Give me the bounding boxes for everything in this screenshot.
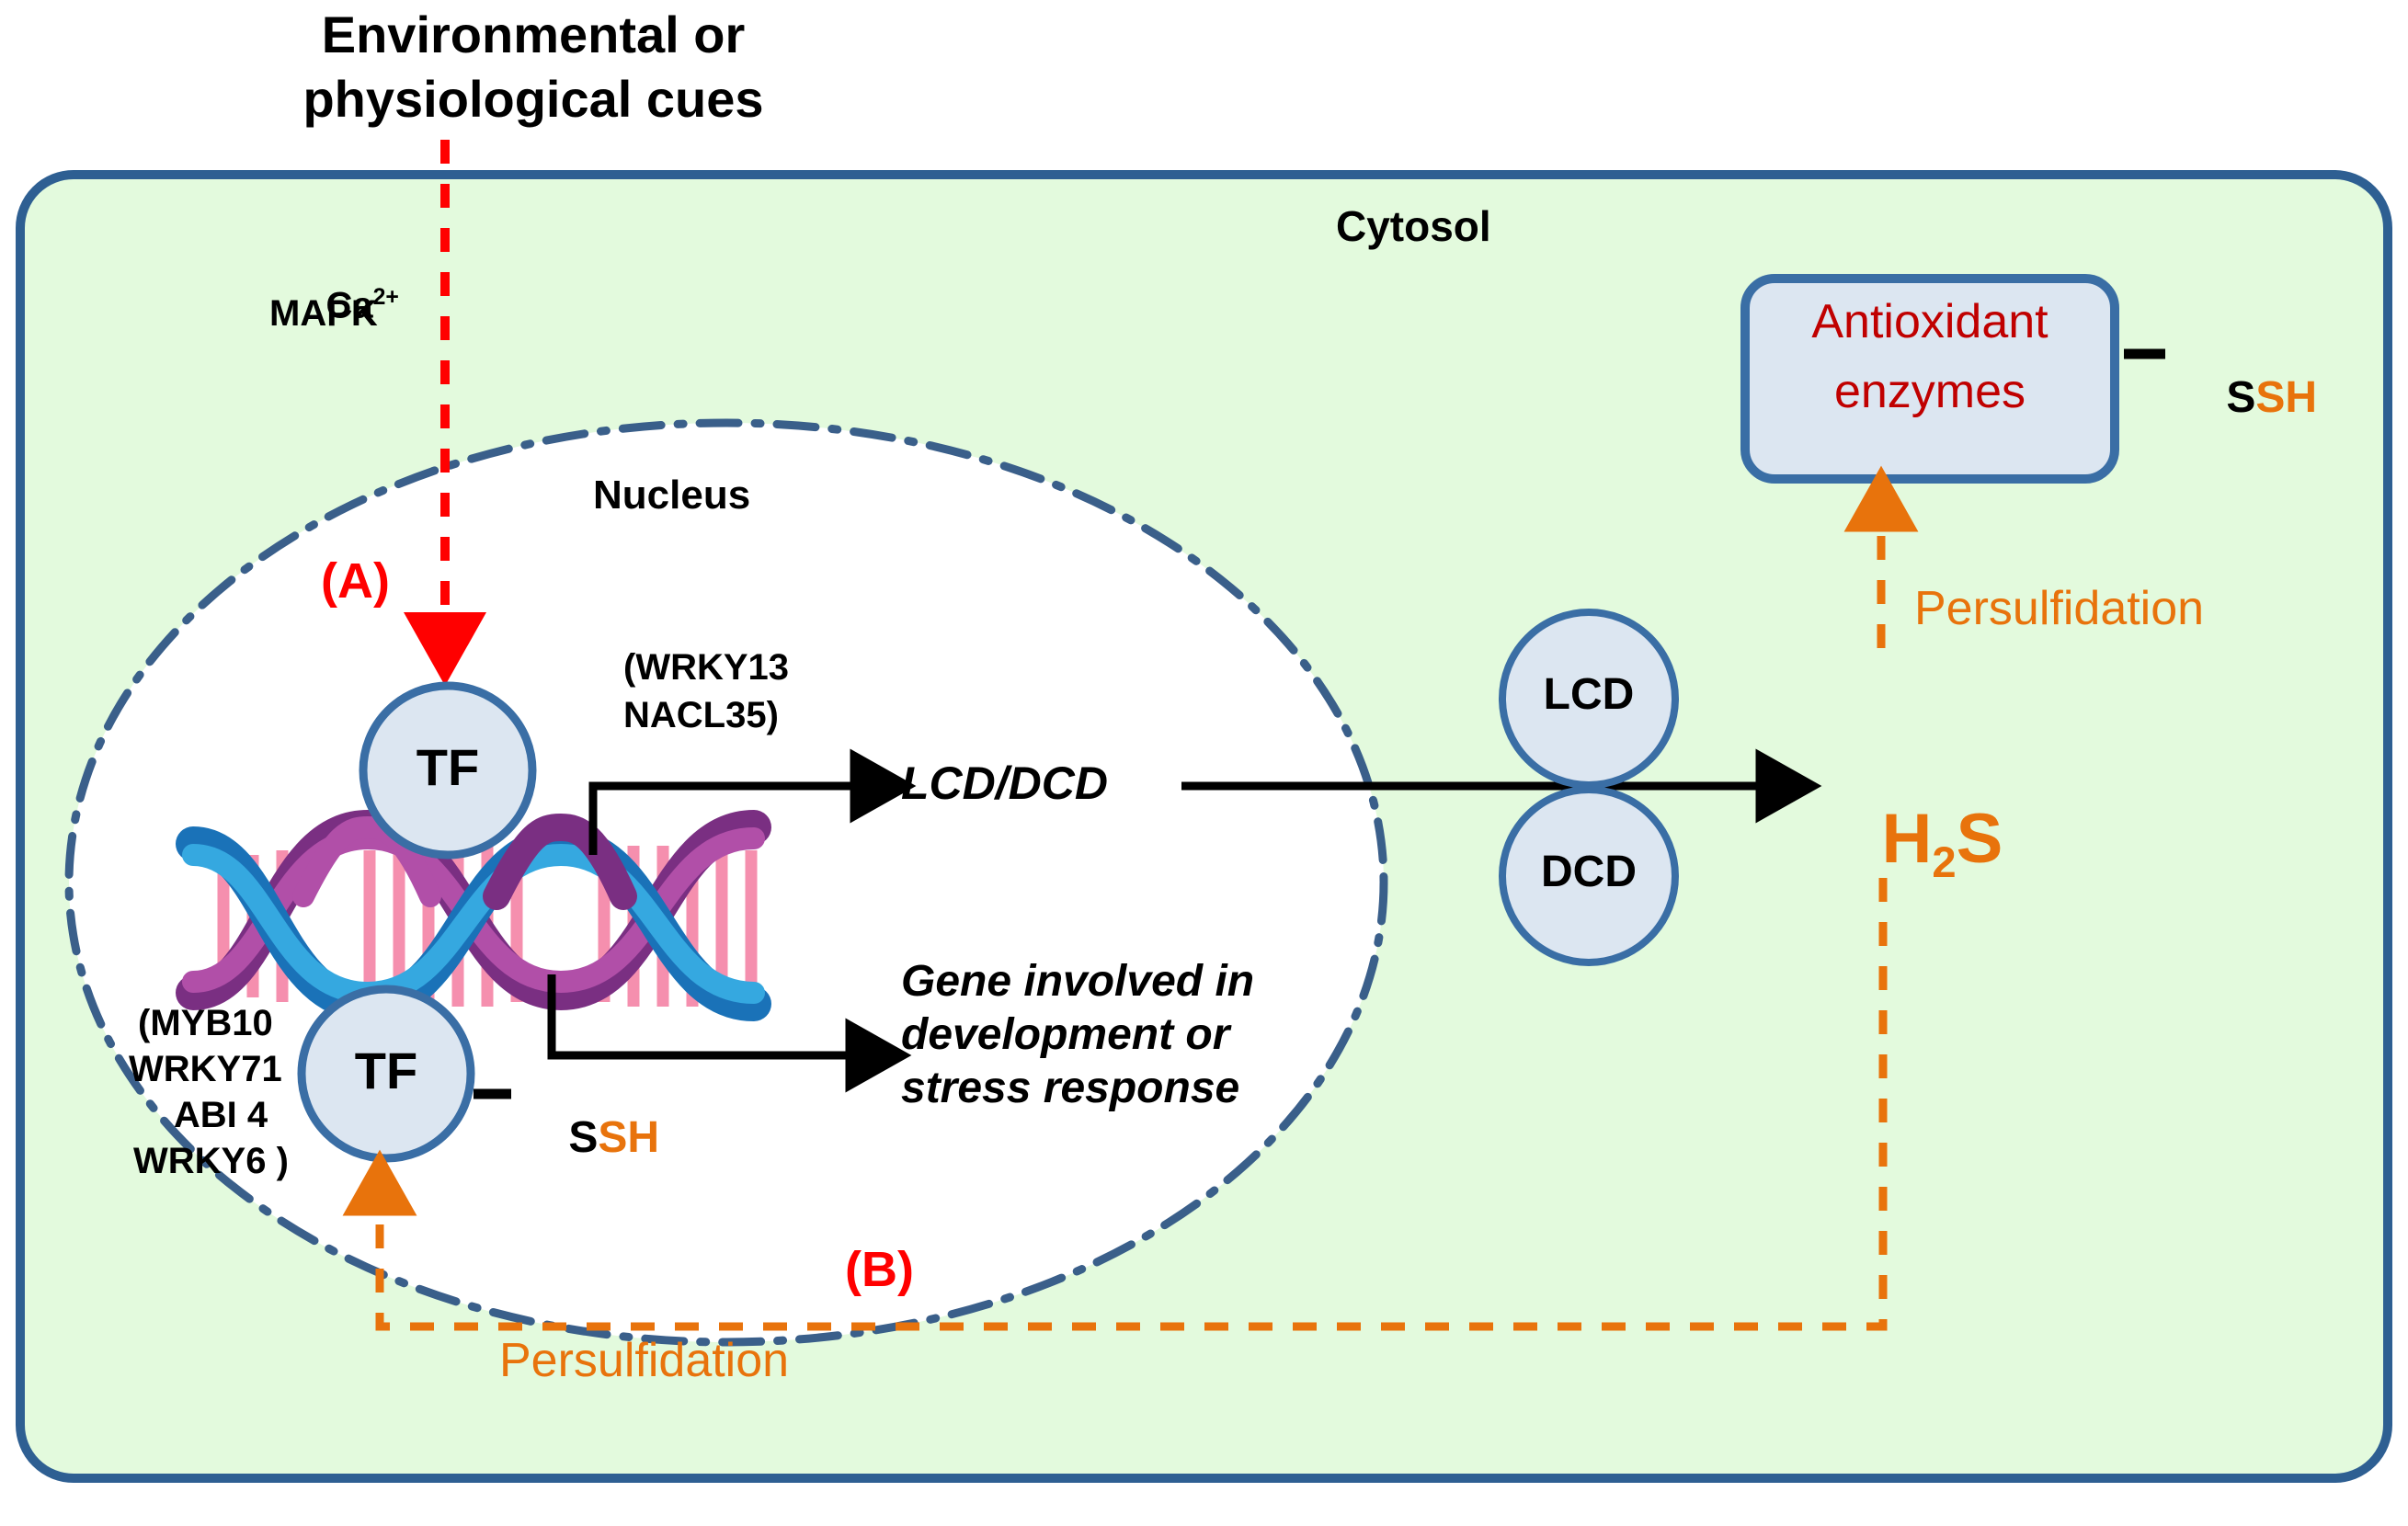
tf-bottom-genes-line2: WRKY71 [129, 1050, 282, 1089]
tf-bottom-label: TF [313, 1043, 460, 1099]
tf-ssh-s-black: S [568, 1113, 598, 1162]
antioxidant-ssh-label: SSH [2177, 326, 2317, 469]
h2s-subscript: 2 [1932, 837, 1956, 886]
ssh-s-black: S [2226, 373, 2255, 422]
gene-target-line1: Gene involved in [901, 958, 1254, 1006]
title-line2: physiological cues [230, 72, 837, 127]
title-line1: Environmental or [257, 7, 809, 63]
h2s-label: H2S [1804, 726, 2003, 962]
tf-top-genes-line2: NACL35) [623, 696, 779, 735]
gene-target-line3: stress response [901, 1065, 1239, 1112]
dcd-label: DCD [1506, 848, 1672, 896]
diagram-canvas: Environmental or physiological cues Cyto… [0, 0, 2408, 1526]
persulfidation-label-bottom: Persulfidation [499, 1335, 789, 1386]
persulfidation-label-right: Persulfidation [1914, 583, 2204, 634]
tf-ssh-label: SSH [519, 1066, 659, 1209]
gene-target-line2: development or [901, 1011, 1229, 1059]
antioxidant-enzymes-label-line1: Antioxidant [1745, 296, 2115, 347]
nucleus-label: Nucleus [593, 473, 750, 518]
lcd-label: LCD [1506, 671, 1672, 719]
cytosol-label: Cytosol [1336, 204, 1491, 250]
lcd-dcd-target-label: LCD/DCD [901, 758, 1108, 808]
tf-bottom-genes-line3: ABI 4 [129, 1096, 313, 1135]
tf-ssh-sh-orange: SH [598, 1113, 659, 1162]
tf-top-label: TF [374, 740, 521, 795]
tf-bottom-genes-line4: WRKY6 ) [133, 1142, 289, 1181]
tf-bottom-genes-line1: (MYB10 [138, 1004, 273, 1043]
panel-marker-a: (A) [321, 554, 390, 608]
antioxidant-enzymes-label-line2: enzymes [1745, 366, 2115, 417]
tf-top-genes-line1: (WRKY13 [623, 648, 789, 688]
ssh-sh-orange: SH [2255, 373, 2317, 422]
mapk-label: MAPK [269, 294, 378, 334]
h2s-s: S [1957, 800, 2003, 878]
panel-marker-b: (B) [845, 1243, 914, 1296]
h2s-h: H [1881, 800, 1932, 878]
diagram-vector-layer [0, 0, 2408, 1526]
